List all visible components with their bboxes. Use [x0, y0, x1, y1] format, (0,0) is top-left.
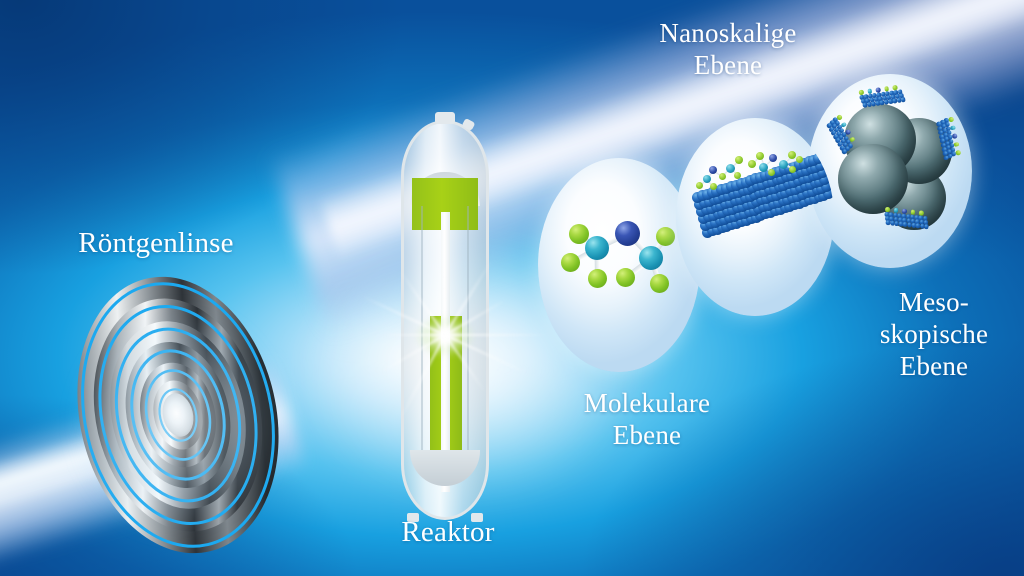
atom-green	[616, 268, 635, 287]
atom-green	[650, 274, 669, 293]
surface-crystal-patch	[883, 212, 928, 230]
patch-atom	[901, 97, 906, 102]
nanoparticle-cluster-diagram	[808, 74, 972, 268]
ligand-atom	[696, 182, 703, 189]
patch-ligand	[956, 150, 961, 155]
patch-atom	[924, 224, 929, 229]
xray-lens	[58, 270, 298, 560]
patch-ligand	[876, 87, 881, 92]
ligand-atom	[719, 173, 726, 180]
reactor-inner-wall-right	[467, 206, 469, 456]
label-xray-lens: Röntgenlinse	[36, 226, 276, 260]
ligand-atom	[756, 152, 764, 160]
ligand-atom	[796, 156, 803, 163]
lens-glow	[18, 240, 338, 576]
ligand-atom	[768, 169, 775, 176]
patch-ligand	[836, 114, 842, 120]
ligand-atom	[734, 172, 741, 179]
label-mesoscopic-level: Meso- skopische Ebene	[848, 287, 1020, 383]
reactor-inner-wall-left	[421, 206, 423, 456]
ligand-atom	[735, 156, 743, 164]
patch-ligand	[952, 133, 957, 138]
atom-navy	[615, 221, 640, 246]
ligand-atom	[769, 154, 777, 162]
patch-ligand	[919, 210, 924, 215]
reactor-vessel	[401, 120, 489, 520]
patch-ligand	[893, 85, 898, 90]
ligand-atom	[788, 151, 796, 159]
patch-ligand	[885, 207, 890, 212]
ligand-atom	[748, 160, 756, 168]
patch-ligand	[902, 209, 907, 214]
ligand-atom	[789, 166, 796, 173]
patch-ligand	[867, 88, 872, 93]
patch-ligand	[950, 125, 955, 130]
patch-ligand	[949, 117, 954, 122]
atom-green	[561, 253, 580, 272]
patch-ligand	[954, 142, 959, 147]
patch-ligand	[884, 86, 889, 91]
illustration-canvas: Röntgenlinse Reaktor Molekulare Ebene Na…	[0, 0, 1024, 576]
atom-green	[588, 269, 607, 288]
atom-teal	[585, 236, 609, 260]
label-nanoscale-level: Nanoskalige Ebene	[608, 18, 848, 82]
ligand-atom	[710, 183, 717, 190]
reactor-top-nozzle	[435, 112, 455, 124]
ligand-atom	[703, 175, 711, 183]
mesoscopic-nanoparticle	[838, 144, 908, 214]
patch-ligand	[893, 208, 898, 213]
atom-green	[656, 227, 675, 246]
atom-teal	[639, 246, 663, 270]
patch-ligand	[859, 90, 864, 95]
label-molecular-level: Molekulare Ebene	[546, 388, 748, 452]
ligand-atom	[726, 164, 735, 173]
ligand-atom	[709, 166, 717, 174]
ellipse-mesoscopic-level	[808, 74, 972, 268]
ligand-atom	[759, 163, 768, 172]
ligand-atom	[779, 160, 788, 169]
label-reactor: Reaktor	[358, 515, 538, 549]
